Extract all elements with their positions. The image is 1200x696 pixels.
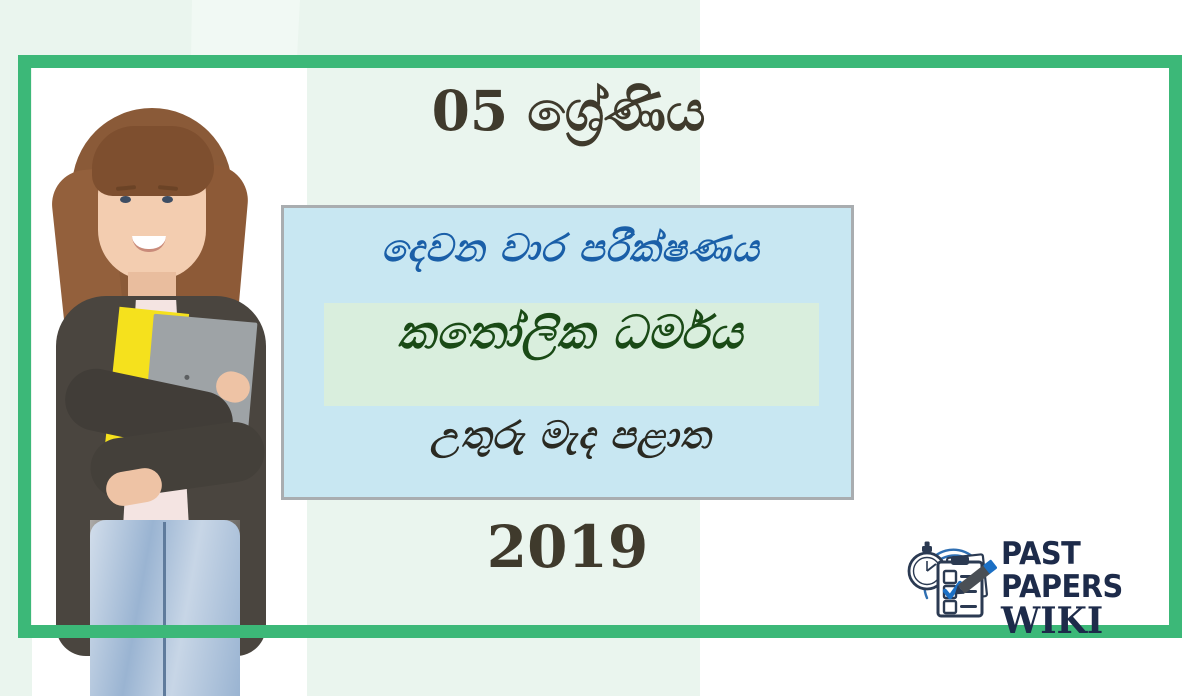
past-papers-wiki-logo[interactable]: PAST PAPERS WIKI bbox=[905, 532, 1167, 624]
exam-details-box: දෙවන වාර පරීක්ෂණය කතෝලික ධර්මය උතුරු මැද… bbox=[281, 205, 854, 500]
province-label: උතුරු මැද පළාත bbox=[284, 413, 857, 458]
logo-wordmark: PAST PAPERS WIKI bbox=[1001, 538, 1167, 640]
term-label: දෙවන වාර පරීක්ෂණය bbox=[284, 226, 857, 271]
clipboard-stopwatch-icon bbox=[905, 534, 997, 622]
logo-line-2: WIKI bbox=[1001, 603, 1162, 640]
logo-line-1: PAST PAPERS bbox=[1001, 538, 1155, 603]
subject-label: කතෝලික ධර්මය bbox=[284, 305, 857, 361]
exam-year: 2019 bbox=[281, 518, 854, 576]
exam-paper-cover-poster: 05 ශ්‍රේණිය දෙවන වාර පරීක්ෂණය කතෝලික ධර්… bbox=[0, 0, 1200, 696]
grade-title: 05 ශ්‍රේණිය bbox=[281, 83, 856, 138]
